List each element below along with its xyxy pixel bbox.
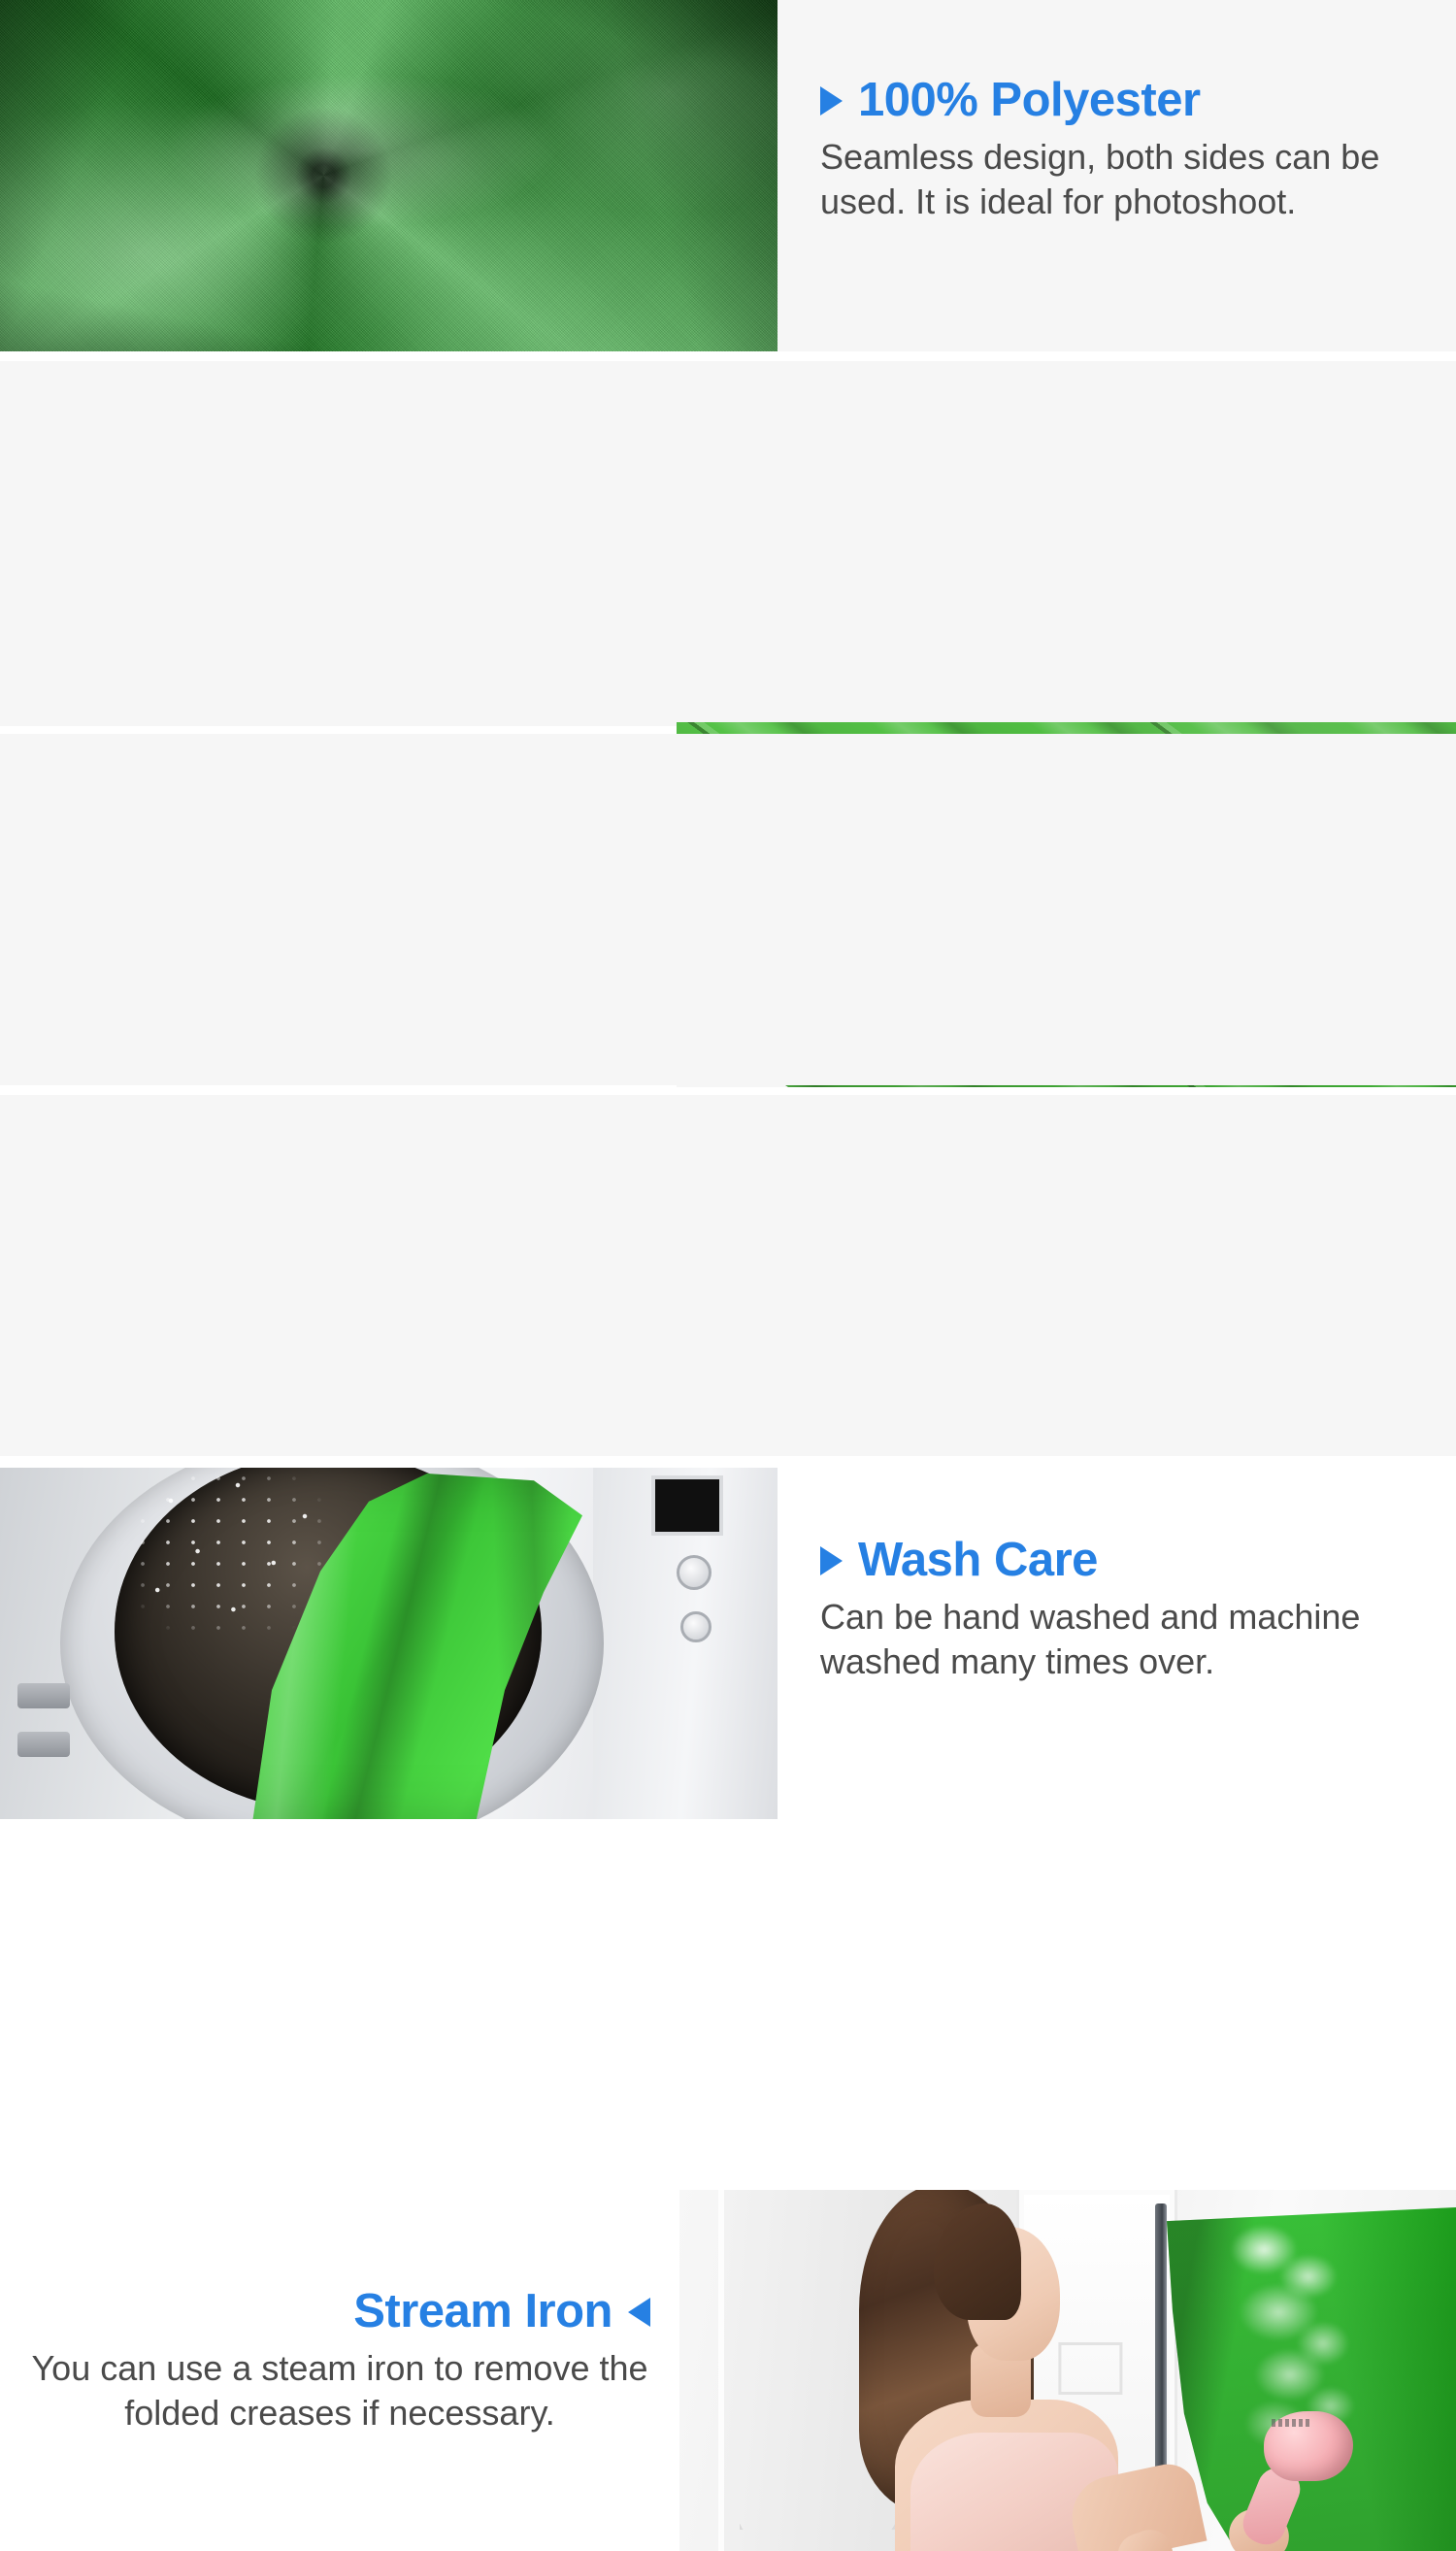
feature-heading-stream-iron: Stream Iron — [29, 2287, 650, 2336]
feature-heading-wash-care: Wash Care — [820, 1536, 1446, 1585]
steamer-brand-label — [1272, 2419, 1312, 2427]
door-hinge-lower — [17, 1732, 70, 1757]
woman-steaming-green-backdrop-photo — [679, 2190, 1456, 2551]
feature-description: Can be hand washed and machine washed ma… — [820, 1595, 1446, 1683]
feature-title: Stream Iron — [353, 2287, 612, 2336]
feature-title: 100% Polyester — [858, 76, 1201, 125]
feature-text-polyester: 100% Polyester Seamless design, both sid… — [820, 76, 1441, 224]
green-polyester-fabric-swirl-photo — [0, 0, 778, 351]
machine-knob-upper — [677, 1555, 711, 1590]
feature-text-wash-care: Wash Care Can be hand washed and machine… — [820, 1536, 1446, 1684]
triangle-right-icon — [820, 1546, 843, 1575]
feature-title: Wash Care — [858, 1536, 1098, 1585]
pink-garment-steamer — [1264, 2411, 1353, 2481]
green-cloth-in-washing-machine-photo — [0, 1468, 778, 1819]
product-feature-infographic: 100% Polyester Seamless design, both sid… — [0, 0, 1456, 1456]
steam-cloud — [1194, 2223, 1378, 2446]
feature-description: Seamless design, both sides can be used.… — [820, 135, 1441, 223]
feature-heading-polyester: 100% Polyester — [820, 76, 1441, 125]
feature-band-edge-stitching: Edge Stitching All the edges are careful… — [0, 361, 1456, 726]
feature-text-stream-iron: Stream Iron You can use a steam iron to … — [29, 2287, 650, 2435]
fabric-fold-shading — [0, 0, 778, 351]
machine-knob-lower — [680, 1611, 711, 1642]
feature-band-wash-care: Wash Care Can be hand washed and machine… — [0, 734, 1456, 1085]
feature-band-stream-iron: Stream Iron You can use a steam iron to … — [0, 1095, 1456, 1456]
door-hinge-upper — [17, 1683, 70, 1708]
feature-description: You can use a steam iron to remove the f… — [29, 2346, 650, 2435]
triangle-left-icon — [628, 2298, 650, 2327]
triangle-right-icon — [820, 86, 843, 116]
machine-display-screen — [651, 1475, 723, 1536]
feature-band-polyester: 100% Polyester Seamless design, both sid… — [0, 0, 1456, 351]
